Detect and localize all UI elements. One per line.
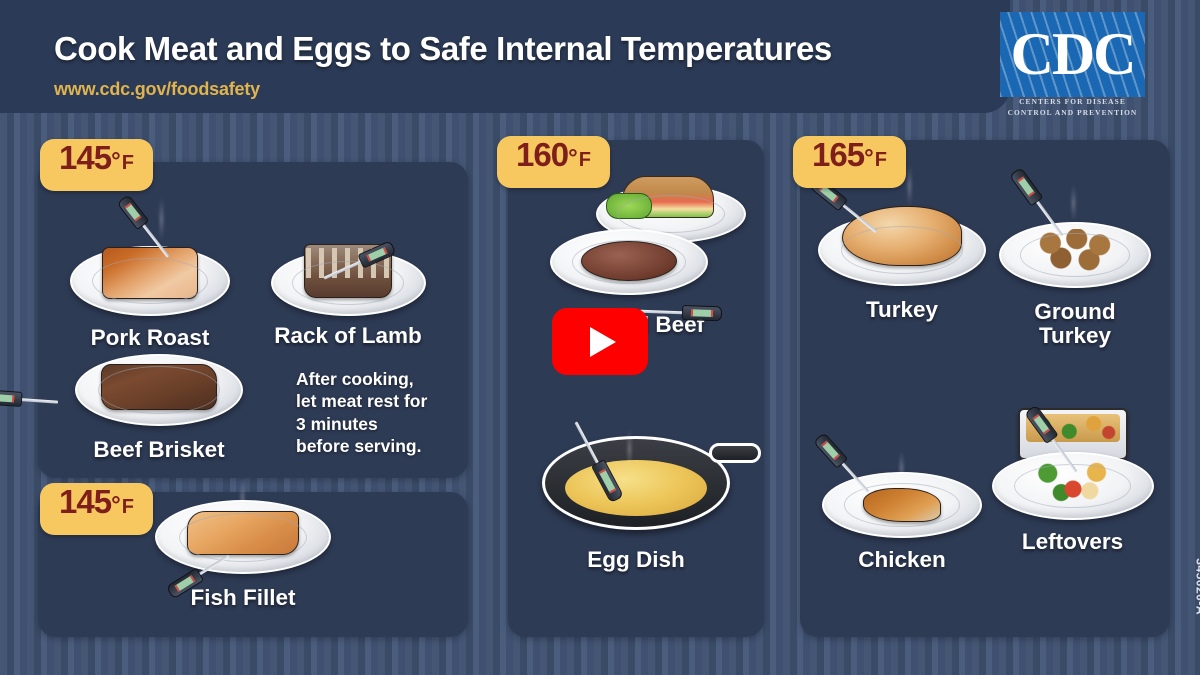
- badge-degree-symbol: °: [111, 492, 121, 520]
- thermometer-icon: [640, 303, 723, 322]
- pork-roast-image: [102, 247, 198, 299]
- cdc-logo: CDC CENTERS FOR DISEASE CONTROL AND PREV…: [1000, 12, 1145, 120]
- play-icon: [590, 327, 616, 357]
- meatballs-image: [1031, 229, 1119, 273]
- page-title: Cook Meat and Eggs to Safe Internal Temp…: [54, 30, 832, 68]
- food-item-turkey: Turkey: [812, 180, 992, 322]
- play-button[interactable]: [552, 308, 648, 375]
- food-item-ground-turkey: Ground Turkey: [990, 190, 1160, 349]
- plate: [999, 222, 1151, 288]
- chicken-drumstick-image: [863, 488, 941, 522]
- food-label: Pork Roast: [60, 326, 240, 350]
- food-item-pork-roast: Pork Roast: [60, 204, 240, 350]
- badge-degree-symbol: °: [864, 145, 874, 173]
- panel-165-poultry: Turkey Ground Turkey Chicken: [800, 140, 1170, 637]
- food-label: Beef Brisket: [66, 438, 252, 462]
- rest-note-text: After cooking, let meat rest for 3 minut…: [296, 368, 456, 458]
- badge-number: 160: [516, 136, 568, 174]
- infographic-canvas: Cook Meat and Eggs to Safe Internal Temp…: [0, 0, 1200, 675]
- skillet-handle: [709, 443, 761, 463]
- food-label: Chicken: [812, 548, 992, 572]
- steam-icon: [900, 450, 903, 486]
- food-item-egg-dish: Egg Dish: [518, 418, 754, 572]
- badge-number: 165: [812, 136, 864, 174]
- badge-unit: F: [875, 149, 887, 172]
- cdc-logo-subtitle-line1: CENTERS FOR DISEASE: [1000, 97, 1145, 108]
- beef-patty-image: [581, 241, 677, 281]
- food-label: Turkey: [812, 298, 992, 322]
- badge-degree-symbol: °: [111, 148, 121, 176]
- food-label: Ground Turkey: [990, 300, 1160, 349]
- badge-number: 145: [59, 483, 111, 521]
- thermometer-icon: [0, 389, 59, 410]
- food-label: Rack of Lamb: [248, 324, 448, 348]
- food-item-leftovers: Leftovers: [980, 408, 1165, 554]
- cdc-logo-subtitle-line2: CONTROL AND PREVENTION: [1000, 108, 1145, 119]
- website-url[interactable]: www.cdc.gov/foodsafety: [54, 79, 260, 100]
- temperature-badge-145-meats: 145 ° F: [40, 139, 153, 191]
- food-label: Leftovers: [980, 530, 1165, 554]
- food-label: Egg Dish: [518, 548, 754, 572]
- badge-unit: F: [579, 149, 591, 172]
- omelette-image: [565, 460, 707, 516]
- badge-number: 145: [59, 139, 111, 177]
- lettuce-image: [606, 193, 652, 219]
- badge-unit: F: [122, 496, 134, 519]
- plate: [818, 214, 986, 286]
- food-item-rack-of-lamb: Rack of Lamb: [248, 204, 448, 348]
- header-bar: Cook Meat and Eggs to Safe Internal Temp…: [0, 0, 1010, 113]
- food-item-fish-fillet: Fish Fillet: [143, 500, 343, 610]
- panel-145-meats: Pork Roast Rack of Lamb Beef Brisket: [38, 162, 468, 478]
- steam-icon: [241, 478, 244, 518]
- cdc-logo-letters: CDC: [1000, 12, 1145, 97]
- plate: [75, 354, 243, 426]
- badge-degree-symbol: °: [568, 145, 578, 173]
- publication-code: 345020-A: [1194, 558, 1200, 615]
- steam-icon: [908, 164, 911, 208]
- food-item-beef-brisket: Beef Brisket: [66, 354, 252, 462]
- badge-unit: F: [122, 152, 134, 175]
- fish-fillet-image: [187, 511, 299, 555]
- beef-brisket-image: [101, 364, 217, 410]
- plate: [550, 229, 708, 295]
- temperature-badge-145-fish: 145 ° F: [40, 483, 153, 535]
- temperature-badge-160: 160 ° F: [497, 136, 610, 188]
- food-item-chicken: Chicken: [812, 436, 992, 572]
- cdc-logo-mark: CDC: [1000, 12, 1145, 97]
- skillet-image: [542, 436, 730, 530]
- plate: [70, 246, 230, 316]
- steam-icon: [1072, 184, 1075, 222]
- steam-icon: [628, 428, 631, 470]
- temperature-badge-165: 165 ° F: [793, 136, 906, 188]
- panel-160-ground-beef-eggs: Ground Beef Egg Dish: [508, 140, 764, 637]
